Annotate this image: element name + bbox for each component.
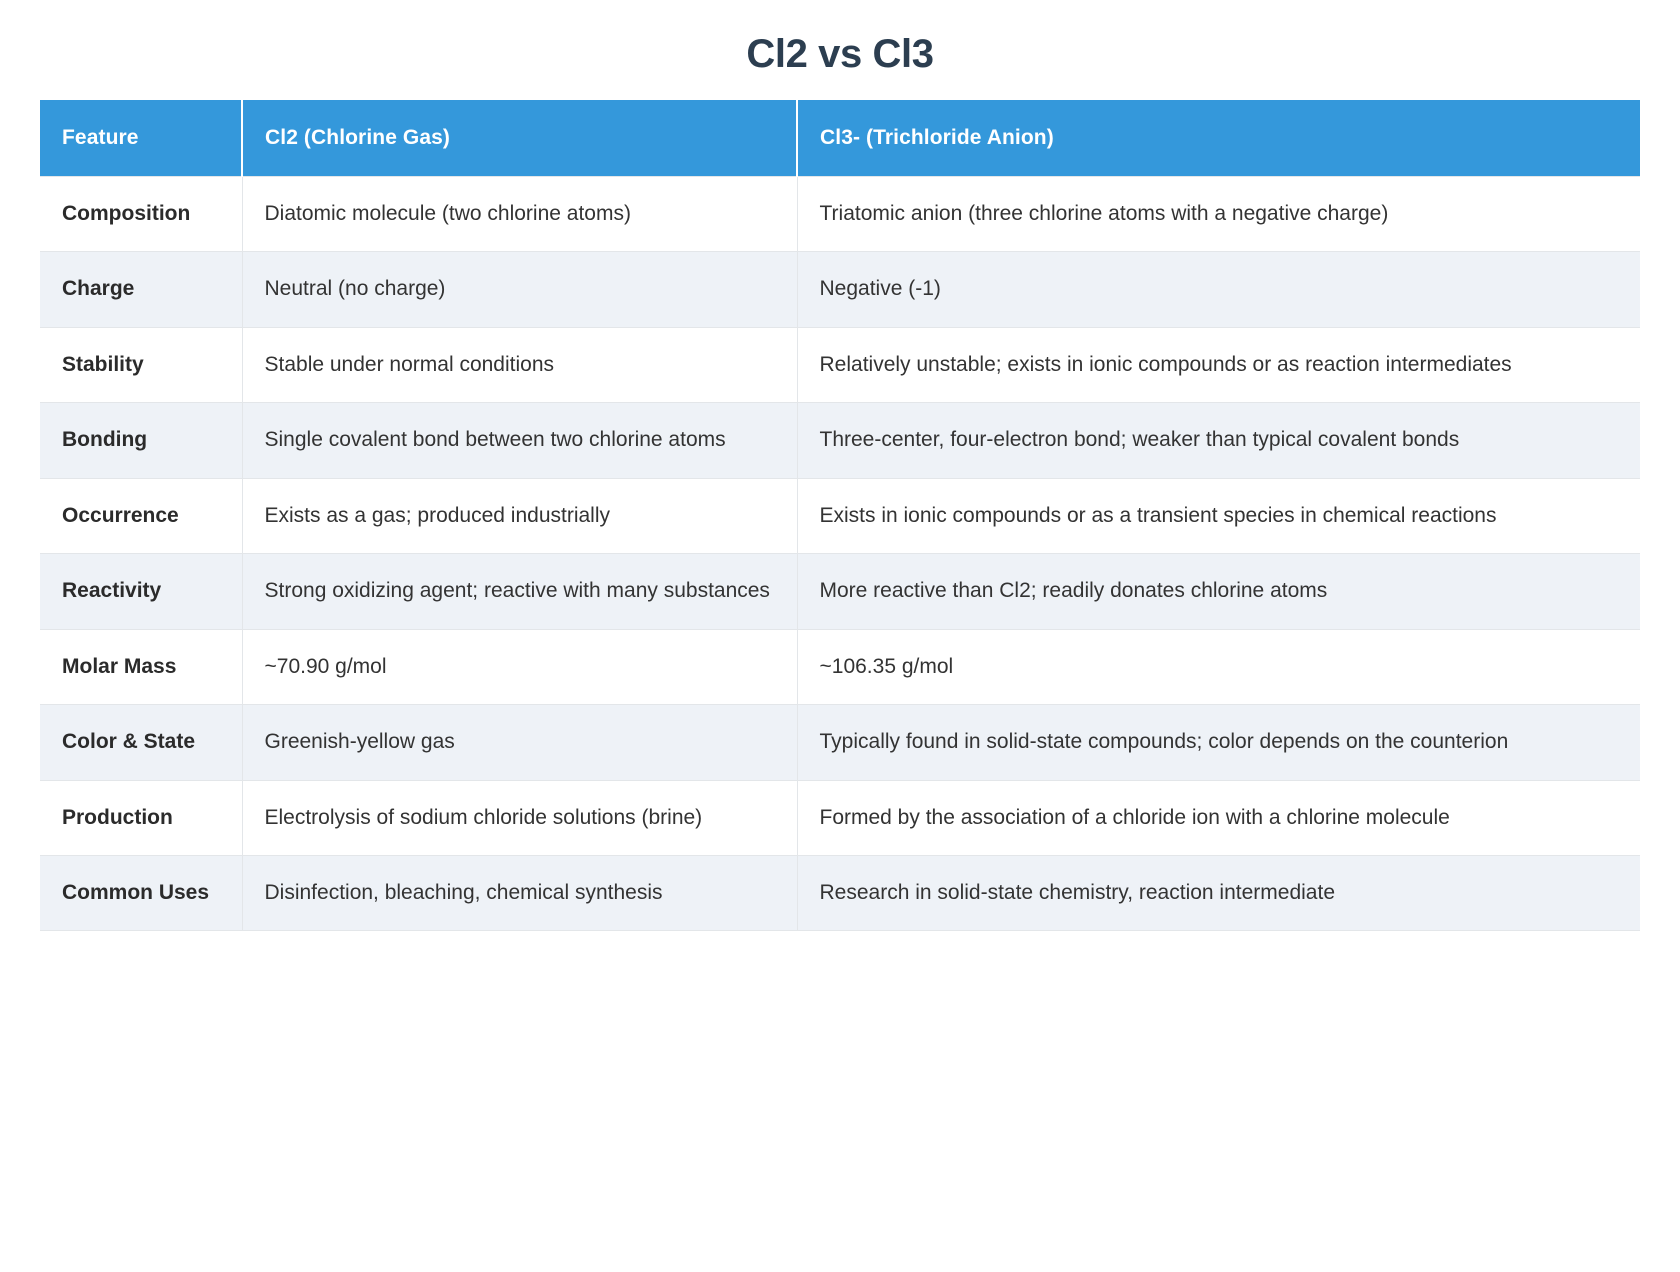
table-row: CompositionDiatomic molecule (two chlori… xyxy=(40,177,1640,252)
cell-cl2: ~70.90 g/mol xyxy=(242,629,797,704)
table-row: ChargeNeutral (no charge)Negative (-1) xyxy=(40,252,1640,327)
table-header-row: Feature Cl2 (Chlorine Gas) Cl3- (Trichlo… xyxy=(40,100,1640,177)
page-root: Cl2 vs Cl3 Feature Cl2 (Chlorine Gas) Cl… xyxy=(0,0,1680,1272)
cell-cl2: Greenish-yellow gas xyxy=(242,705,797,780)
cell-feature: Color & State xyxy=(40,705,242,780)
cell-feature: Molar Mass xyxy=(40,629,242,704)
column-header-cl2: Cl2 (Chlorine Gas) xyxy=(242,100,797,177)
cell-cl3: Relatively unstable; exists in ionic com… xyxy=(797,327,1640,402)
table-row: StabilityStable under normal conditionsR… xyxy=(40,327,1640,402)
table-row: Color & StateGreenish-yellow gasTypicall… xyxy=(40,705,1640,780)
comparison-table: Feature Cl2 (Chlorine Gas) Cl3- (Trichlo… xyxy=(40,100,1640,931)
table-row: Common UsesDisinfection, bleaching, chem… xyxy=(40,855,1640,930)
cell-cl3: Negative (-1) xyxy=(797,252,1640,327)
column-header-feature: Feature xyxy=(40,100,242,177)
cell-cl2: Stable under normal conditions xyxy=(242,327,797,402)
cell-feature: Production xyxy=(40,780,242,855)
cell-feature: Reactivity xyxy=(40,554,242,629)
table-body: CompositionDiatomic molecule (two chlori… xyxy=(40,177,1640,931)
cell-feature: Stability xyxy=(40,327,242,402)
cell-feature: Charge xyxy=(40,252,242,327)
table-row: Molar Mass~70.90 g/mol~106.35 g/mol xyxy=(40,629,1640,704)
table-header: Feature Cl2 (Chlorine Gas) Cl3- (Trichlo… xyxy=(40,100,1640,177)
cell-cl2: Neutral (no charge) xyxy=(242,252,797,327)
cell-cl3: Triatomic anion (three chlorine atoms wi… xyxy=(797,177,1640,252)
cell-cl3: Typically found in solid-state compounds… xyxy=(797,705,1640,780)
cell-feature: Bonding xyxy=(40,403,242,478)
cell-cl3: Three-center, four-electron bond; weaker… xyxy=(797,403,1640,478)
cell-cl2: Electrolysis of sodium chloride solution… xyxy=(242,780,797,855)
page-title: Cl2 vs Cl3 xyxy=(0,0,1680,100)
table-row: ProductionElectrolysis of sodium chlorid… xyxy=(40,780,1640,855)
cell-cl3: Formed by the association of a chloride … xyxy=(797,780,1640,855)
cell-cl2: Disinfection, bleaching, chemical synthe… xyxy=(242,855,797,930)
cell-feature: Occurrence xyxy=(40,478,242,553)
cell-cl2: Exists as a gas; produced industrially xyxy=(242,478,797,553)
cell-cl3: Exists in ionic compounds or as a transi… xyxy=(797,478,1640,553)
cell-cl3: ~106.35 g/mol xyxy=(797,629,1640,704)
cell-cl3: More reactive than Cl2; readily donates … xyxy=(797,554,1640,629)
cell-cl2: Diatomic molecule (two chlorine atoms) xyxy=(242,177,797,252)
table-row: BondingSingle covalent bond between two … xyxy=(40,403,1640,478)
comparison-table-container: Feature Cl2 (Chlorine Gas) Cl3- (Trichlo… xyxy=(40,100,1640,931)
table-row: OccurrenceExists as a gas; produced indu… xyxy=(40,478,1640,553)
cell-cl2: Single covalent bond between two chlorin… xyxy=(242,403,797,478)
column-header-cl3: Cl3- (Trichloride Anion) xyxy=(797,100,1640,177)
cell-feature: Composition xyxy=(40,177,242,252)
cell-cl2: Strong oxidizing agent; reactive with ma… xyxy=(242,554,797,629)
cell-feature: Common Uses xyxy=(40,855,242,930)
table-row: ReactivityStrong oxidizing agent; reacti… xyxy=(40,554,1640,629)
cell-cl3: Research in solid-state chemistry, react… xyxy=(797,855,1640,930)
